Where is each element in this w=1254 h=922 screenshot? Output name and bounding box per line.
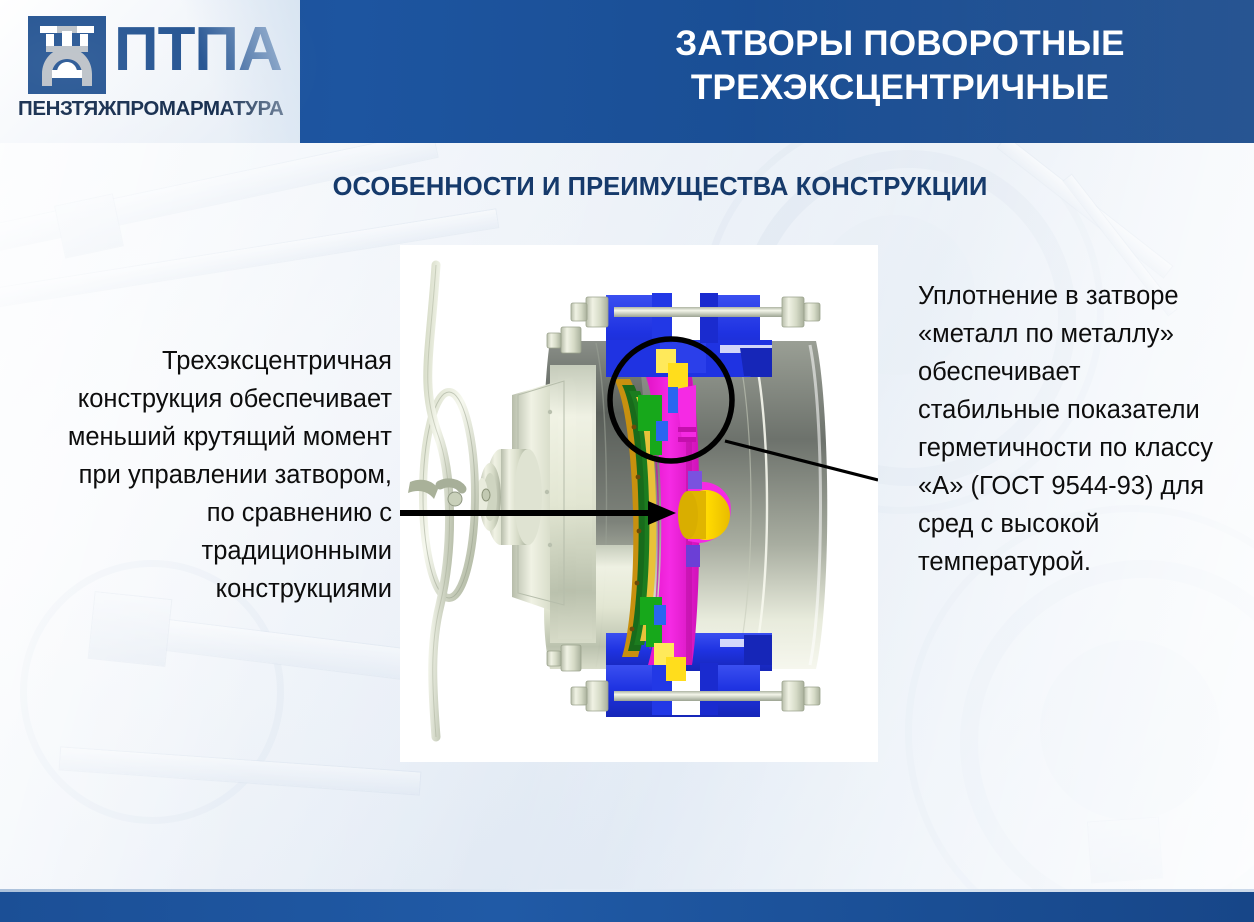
company-logo: ПТПА ПЕНЗТЯЖПРОМАРМАТУРА (18, 16, 280, 128)
valve-cutaway-illustration (400, 245, 878, 762)
valve-figure-panel (400, 245, 878, 762)
page-title: ЗАТВОРЫ ПОВОРОТНЫЕ ТРЕХЭКСЦЕНТРИЧНЫЕ (560, 22, 1240, 110)
ptpa-valve-logo-icon (28, 16, 106, 94)
slide: ПТПА ПЕНЗТЯЖПРОМАРМАТУРА ЗАТВОРЫ ПОВОРОТ… (0, 0, 1254, 922)
logo-plate: ПТПА ПЕНЗТЯЖПРОМАРМАТУРА (0, 0, 300, 143)
slide-header: ПТПА ПЕНЗТЯЖПРОМАРМАТУРА ЗАТВОРЫ ПОВОРОТ… (0, 0, 1254, 143)
logo-tagline: ПЕНЗТЯЖПРОМАРМАТУРА (18, 96, 280, 122)
slide-footer (0, 892, 1254, 922)
page-title-line-1: ЗАТВОРЫ ПОВОРОТНЫЕ (560, 22, 1240, 66)
logo-wordmark: ПТПА (114, 14, 282, 86)
callout-right-text: Уплотнение в затворе «металл по металлу»… (918, 277, 1218, 581)
section-subtitle: ОСОБЕННОСТИ И ПРЕИМУЩЕСТВА КОНСТРУКЦИИ (160, 171, 1160, 203)
page-title-line-2: ТРЕХЭКСЦЕНТРИЧНЫЕ (560, 66, 1240, 110)
callout-left-text: Трехэксцентричная конструкция обеспечива… (62, 342, 392, 608)
